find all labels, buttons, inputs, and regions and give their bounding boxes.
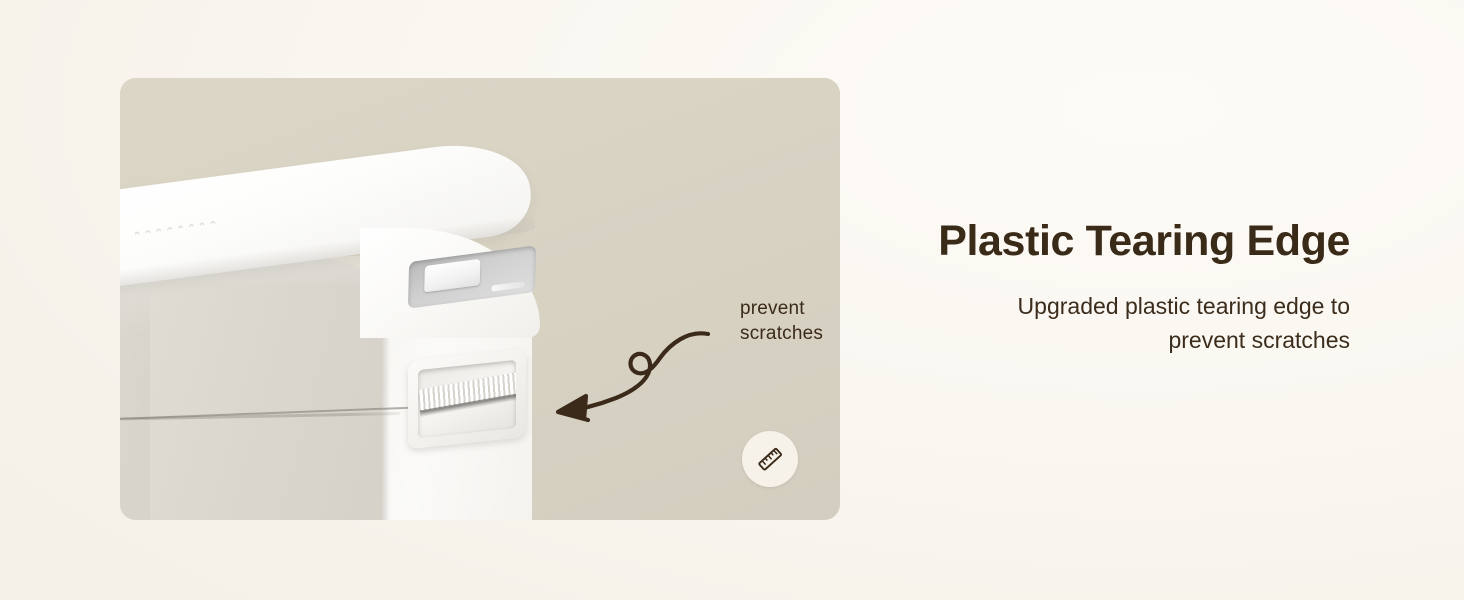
page-title: Plastic Tearing Edge: [880, 215, 1350, 267]
lid-control-slot: [491, 281, 525, 292]
curly-arrow-icon: [520, 328, 710, 423]
promo-banner: •••••••• prevent scratches: [0, 0, 1464, 600]
feature-badge: [742, 431, 798, 487]
feature-text-column: Plastic Tearing Edge Upgraded plastic te…: [880, 215, 1350, 357]
lid-latch-tab: [424, 259, 480, 293]
product-illustration: ••••••••: [120, 78, 680, 520]
product-image-card: •••••••• prevent scratches: [120, 78, 840, 520]
page-subtitle: Upgraded plastic tearing edge to prevent…: [880, 289, 1350, 357]
annotation-label: prevent scratches: [740, 296, 823, 346]
plastic-tearing-edge: [408, 349, 526, 449]
tearing-edge-recess: [418, 360, 516, 438]
ruler-icon: [755, 444, 785, 474]
